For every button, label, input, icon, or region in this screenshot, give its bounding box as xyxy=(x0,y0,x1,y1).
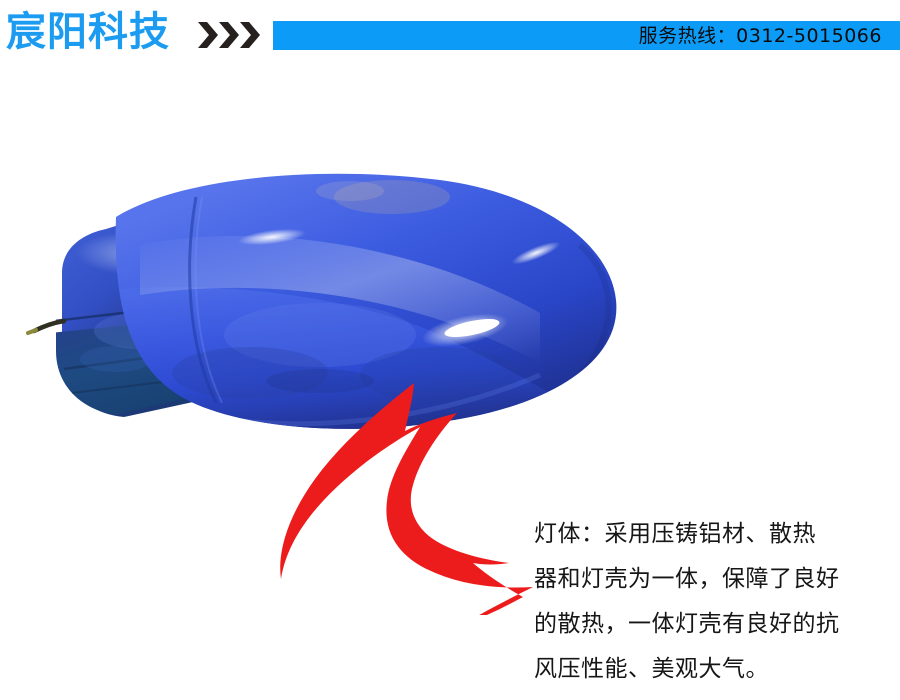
triple-chevron-right-icon xyxy=(196,19,266,51)
curved-red-arrow-icon xyxy=(265,375,545,615)
page-header: 宸阳科技 服务热线：0312-5015066 xyxy=(0,0,900,70)
product-photo-stage: 灯体：采用压铸铝材、散热 器和灯壳为一体，保障了良好 的散热，一体灯壳有良好的抗… xyxy=(0,70,900,700)
caption-line-4: 风压性能、美观大气。 xyxy=(534,647,864,692)
caption-line-3: 的散热，一体灯壳有良好的抗 xyxy=(534,602,864,647)
brand-logo: 宸阳科技 xyxy=(6,8,170,56)
lamp-power-cable xyxy=(28,321,64,333)
callout-caption: 灯体：采用压铸铝材、散热 器和灯壳为一体，保障了良好 的散热，一体灯壳有良好的抗… xyxy=(534,512,864,692)
caption-line-1: 灯体：采用压铸铝材、散热 xyxy=(534,512,864,557)
service-hotline-text: 服务热线：0312-5015066 xyxy=(639,22,882,50)
caption-line-2: 器和灯壳为一体，保障了良好 xyxy=(534,557,864,602)
